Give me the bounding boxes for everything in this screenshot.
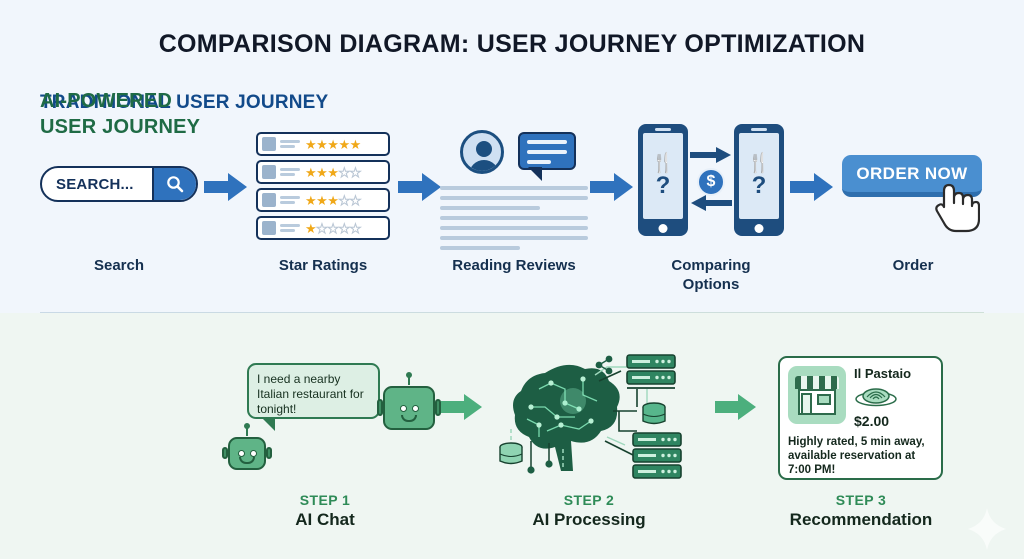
step-number: STEP 1 (250, 492, 400, 508)
step-label-1: STEP 1 AI Chat (250, 492, 400, 530)
step-number: STEP 2 (513, 492, 665, 508)
caption-comparing-options: Comparing Options (636, 256, 786, 294)
table-row[interactable]: ★★★★★ (256, 132, 390, 156)
avatar (460, 130, 504, 174)
ai-heading-line-2: USER JOURNEY (40, 114, 200, 140)
search-bar[interactable]: SEARCH... (40, 166, 198, 202)
phone-right: 🍴 ? (734, 124, 784, 236)
star-ratings-list: ★★★★★ ★★★★★ ★★★★★ ★★★★★ (256, 132, 390, 244)
arrow-right-icon (690, 146, 732, 164)
database-icon-left (500, 443, 522, 464)
star-rating: ★★★★★ (305, 194, 361, 207)
cursor-hand-icon (934, 181, 980, 233)
diagram-canvas: COMPARISON DIAGRAM: USER JOURNEY OPTIMIZ… (0, 0, 1024, 559)
arrow-icon-2 (398, 172, 442, 202)
restaurant-name: Il Pastaio (854, 366, 911, 381)
search-icon (165, 174, 185, 194)
arrow-icon-1 (204, 172, 248, 202)
recommendation-card[interactable]: Il Pastaio $2.00 Highly rated, 5 min awa… (778, 356, 943, 480)
star-rating: ★★★★★ (305, 222, 361, 235)
comparing-options-illustration: 🍴 ? 🍴 ? $ (638, 124, 784, 236)
green-arrow-icon-1 (441, 393, 483, 421)
search-button[interactable] (152, 168, 196, 200)
chat-bubble: I need a nearby Italian restaurant for t… (247, 363, 380, 419)
thumbnail (262, 221, 276, 235)
step-title: AI Processing (513, 510, 665, 530)
step-title: Recommendation (784, 510, 938, 530)
ai-heading-line-1: AI-POWERED (40, 88, 200, 114)
thumbnail (262, 165, 276, 179)
step-number: STEP 3 (784, 492, 938, 508)
storefront-icon (788, 366, 846, 424)
arrow-icon-4 (790, 172, 834, 202)
pasta-plate-icon (854, 383, 898, 407)
caption-search: Search (44, 256, 194, 275)
search-input[interactable]: SEARCH... (42, 176, 152, 193)
traditional-journey-section: COMPARISON DIAGRAM: USER JOURNEY OPTIMIZ… (0, 0, 1024, 313)
table-row[interactable]: ★★★★★ (256, 160, 390, 184)
question-mark-icon: ? (656, 174, 671, 198)
step-label-3: STEP 3 Recommendation (784, 492, 938, 530)
caption-order: Order (838, 256, 988, 275)
robot-icon-small (228, 437, 266, 470)
page-title: COMPARISON DIAGRAM: USER JOURNEY OPTIMIZ… (0, 30, 1024, 59)
price-badge: $ (697, 168, 725, 196)
caption-star-ratings: Star Ratings (248, 256, 398, 275)
step-label-2: STEP 2 AI Processing (513, 492, 665, 530)
recommendation-description: Highly rated, 5 min away, available rese… (788, 435, 933, 477)
table-row[interactable]: ★★★★★ (256, 188, 390, 212)
arrow-icon-3 (590, 172, 634, 202)
sparkle-icon (968, 508, 1006, 550)
thumbnail (262, 193, 276, 207)
thumbnail (262, 137, 276, 151)
green-arrow-icon-2 (715, 393, 757, 421)
text-placeholder (280, 194, 300, 206)
question-mark-icon: ? (752, 174, 767, 198)
arrow-left-icon (690, 194, 732, 212)
table-row[interactable]: ★★★★★ (256, 216, 390, 240)
cutlery-icon: 🍴 (651, 154, 675, 173)
cutlery-icon: 🍴 (747, 154, 771, 173)
price: $2.00 (854, 413, 911, 429)
robot-icon-large (383, 386, 435, 430)
server-rack-top (627, 355, 675, 388)
server-rack-bottom (633, 433, 681, 478)
text-placeholder (280, 138, 300, 150)
star-rating: ★★★★★ (305, 166, 361, 179)
order-cta-group: ORDER NOW (842, 155, 982, 197)
phone-left: 🍴 ? (638, 124, 688, 236)
star-rating: ★★★★★ (305, 138, 361, 151)
text-placeholder (280, 166, 300, 178)
review-text-lines (440, 186, 588, 256)
ai-section-heading: AI-POWERED USER JOURNEY (40, 88, 200, 140)
text-placeholder (280, 222, 300, 234)
speech-bubble-icon (518, 132, 576, 170)
database-icon-right (643, 403, 665, 424)
caption-reading-reviews: Reading Reviews (438, 256, 590, 275)
ai-brain-network-icon (487, 345, 699, 480)
step-title: AI Chat (250, 510, 400, 530)
